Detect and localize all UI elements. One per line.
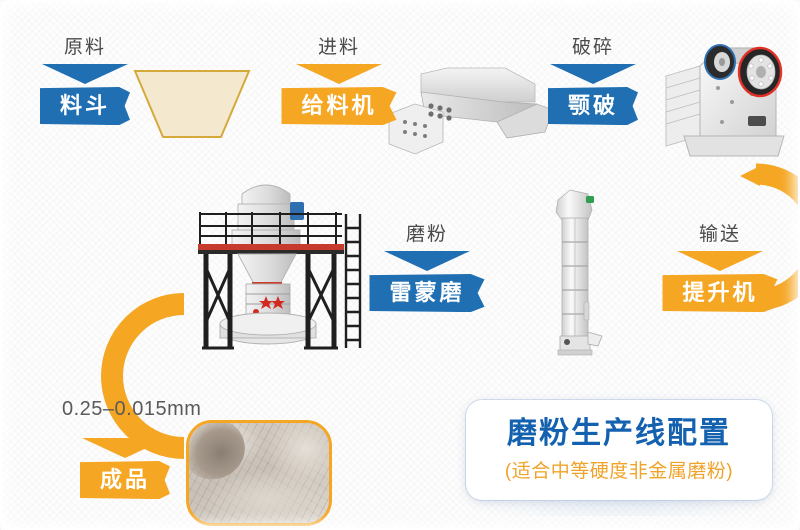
process-flow-diagram: 0.25–0.015mm 原料 料斗 进料 给料机 破碎 颚破 磨粉 雷蒙磨 [0,0,800,530]
step-caption: 磨粉 [352,225,502,244]
bucket-elevator-equipment [536,186,612,363]
step-finished-product: 成品 [60,438,190,499]
product-photo [186,420,332,526]
chevron-down-icon [42,64,128,84]
step-label-raymond-mill[interactable]: 雷蒙磨 [369,274,484,312]
chevron-down-icon [550,64,636,84]
title-subtitle: (适合中等硬度非金属磨粉) [505,456,733,483]
step-crushing: 破碎 颚破 [518,38,668,125]
step-label-jaw-crusher[interactable]: 颚破 [548,87,638,125]
step-caption: 进料 [264,38,414,57]
title-card: 磨粉生产线配置 (适合中等硬度非金属磨粉) [466,400,772,500]
step-caption: 输送 [645,225,795,244]
title-main: 磨粉生产线配置 [507,417,731,452]
step-label-feeder[interactable]: 给料机 [281,87,396,125]
step-label-elevator[interactable]: 提升机 [662,274,777,312]
step-label-hopper[interactable]: 料斗 [40,87,130,125]
step-caption: 原料 [10,38,160,57]
step-grinding: 磨粉 雷蒙磨 [352,225,502,312]
step-conveying: 输送 提升机 [645,225,795,312]
chevron-down-icon [296,64,382,84]
step-feeding: 进料 给料机 [264,38,414,125]
jaw-crusher-equipment [660,32,798,169]
chevron-down-icon [82,438,168,458]
chevron-down-icon [677,251,763,271]
chevron-down-icon [384,251,470,271]
step-label-product[interactable]: 成品 [80,461,170,499]
raymond-mill-equipment [168,172,372,359]
step-raw-material: 原料 料斗 [10,38,160,125]
product-size-label: 0.25–0.015mm [62,398,201,421]
step-caption: 破碎 [518,38,668,57]
